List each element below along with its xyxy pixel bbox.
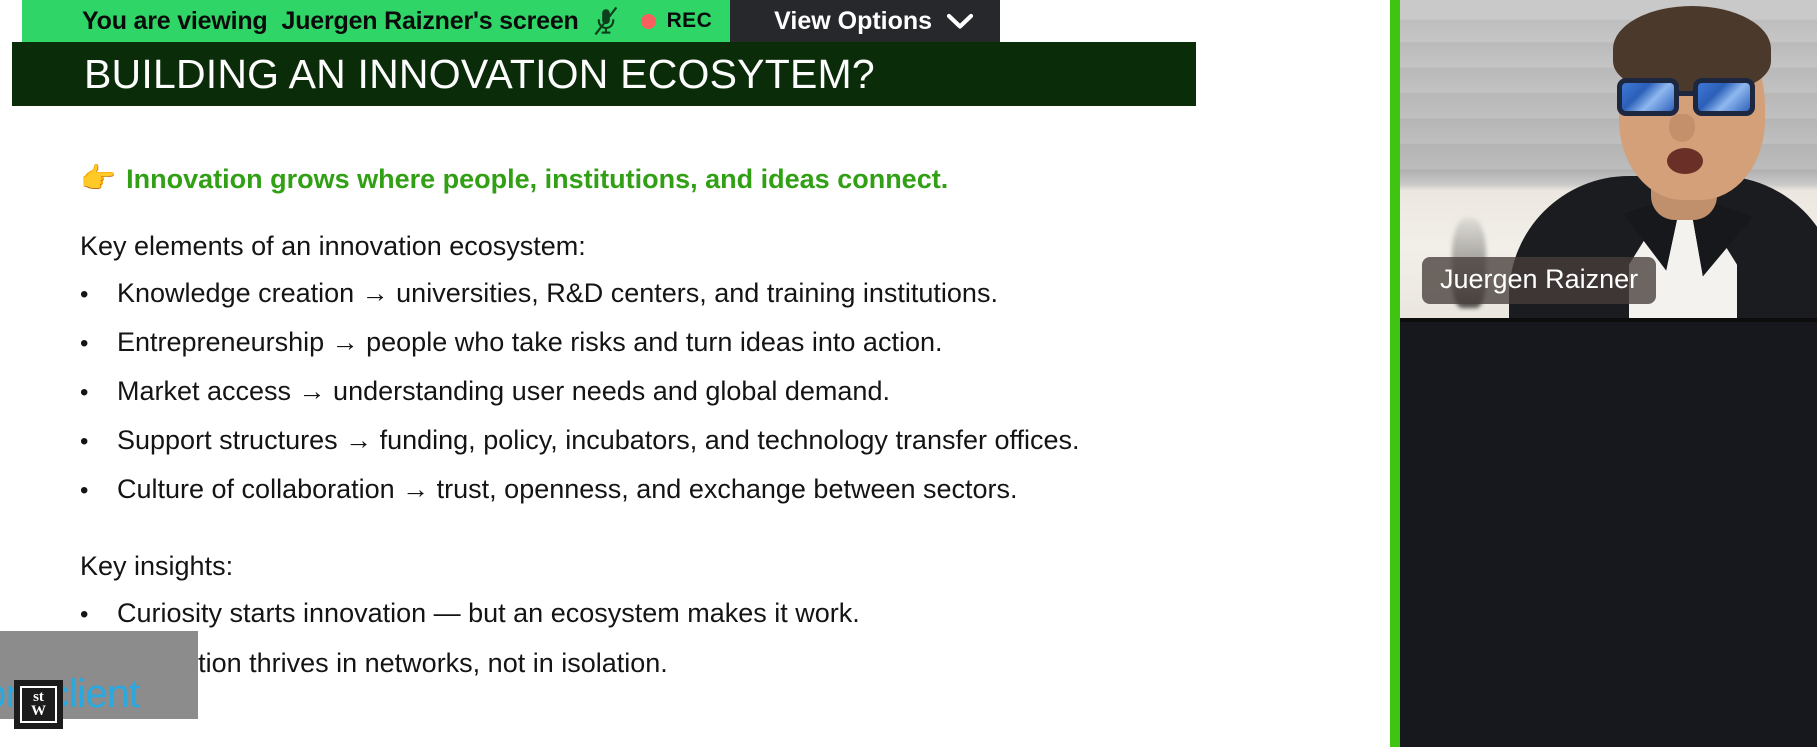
list-item-text: Innovation thrives in networks, not in i… xyxy=(117,646,668,681)
list-item: • Knowledge creation → universities, R&D… xyxy=(80,276,1208,311)
list-item: • Entrepreneurship → people who take ris… xyxy=(80,325,1208,360)
list-item-text: Market access → understanding user needs… xyxy=(117,374,890,409)
list-item: • Market access → understanding user nee… xyxy=(80,374,1208,409)
list-item-text: Support structures → funding, policy, in… xyxy=(117,423,1080,458)
zoom-top-bar: You are viewing Juergen Raizner's screen… xyxy=(22,0,1000,42)
participant-name-text: Juergen Raizner xyxy=(1440,264,1638,294)
shared-screen-area: BUILDING AN INNOVATION ECOSYTEM? 👉 Innov… xyxy=(0,0,1390,747)
glasses-lens-left xyxy=(1617,78,1679,116)
recording-label: REC xyxy=(667,9,713,33)
list-item-text: Knowledge creation → universities, R&D c… xyxy=(117,276,998,311)
key-insights-heading: Key insights: xyxy=(80,551,1208,582)
key-elements-heading: Key elements of an innovation ecosystem: xyxy=(80,231,1208,262)
slide-title-banner: BUILDING AN INNOVATION ECOSYTEM? xyxy=(12,42,1196,106)
list-item: • Culture of collaboration → trust, open… xyxy=(80,472,1208,507)
glasses-lens-right xyxy=(1693,78,1755,116)
participant-video-tile[interactable]: Juergen Raizner xyxy=(1400,0,1817,322)
bullet-glyph: • xyxy=(80,426,117,457)
pointing-finger-icon: 👉 xyxy=(80,165,116,194)
participant-name-label: Juergen Raizner xyxy=(1422,257,1656,304)
recording-indicator: REC xyxy=(641,9,713,33)
view-options-label: View Options xyxy=(774,7,932,36)
bullet-glyph: • xyxy=(80,377,117,408)
person-mouth xyxy=(1667,148,1703,174)
bullet-glyph: • xyxy=(80,475,117,506)
slide-headline-row: 👉 Innovation grows where people, institu… xyxy=(80,164,1208,195)
participant-video-panel: Juergen Raizner xyxy=(1390,0,1817,747)
view-options-button[interactable]: View Options xyxy=(730,0,1000,42)
person-nose xyxy=(1669,114,1695,142)
list-item: • Support structures → funding, policy, … xyxy=(80,423,1208,458)
list-item-text: Entrepreneurship → people who take risks… xyxy=(117,325,942,360)
mic-muted-icon xyxy=(593,6,619,36)
bullet-glyph: • xyxy=(80,599,117,630)
viewing-prefix-label: You are viewing xyxy=(82,7,267,36)
bullet-glyph: • xyxy=(80,328,117,359)
list-item-text: Curiosity starts innovation — but an eco… xyxy=(117,596,860,631)
viewing-status-banner: You are viewing Juergen Raizner's screen… xyxy=(22,0,730,42)
key-elements-list: • Knowledge creation → universities, R&D… xyxy=(80,276,1208,507)
zoom-meeting-window: BUILDING AN INNOVATION ECOSYTEM? 👉 Innov… xyxy=(0,0,1817,747)
list-item-text: Culture of collaboration → trust, openne… xyxy=(117,472,1018,507)
stw-logo-inner: st W xyxy=(20,686,57,723)
key-insights-list: • Curiosity starts innovation — but an e… xyxy=(80,596,1208,680)
stw-logo: st W xyxy=(14,680,63,729)
person-glasses xyxy=(1617,78,1769,118)
list-item: • Curiosity starts innovation — but an e… xyxy=(80,596,1208,631)
recording-dot-icon xyxy=(641,14,656,29)
bullet-glyph: • xyxy=(80,279,117,310)
slide-title: BUILDING AN INNOVATION ECOSYTEM? xyxy=(84,54,875,95)
chevron-down-icon xyxy=(946,12,974,30)
stw-logo-line2: W xyxy=(31,705,46,719)
screen-owner-label: Juergen Raizner's screen xyxy=(281,7,578,36)
active-speaker-green-edge xyxy=(1390,0,1400,747)
slide-headline-text: Innovation grows where people, instituti… xyxy=(126,164,948,195)
list-item: • Innovation thrives in networks, not in… xyxy=(80,646,1208,681)
